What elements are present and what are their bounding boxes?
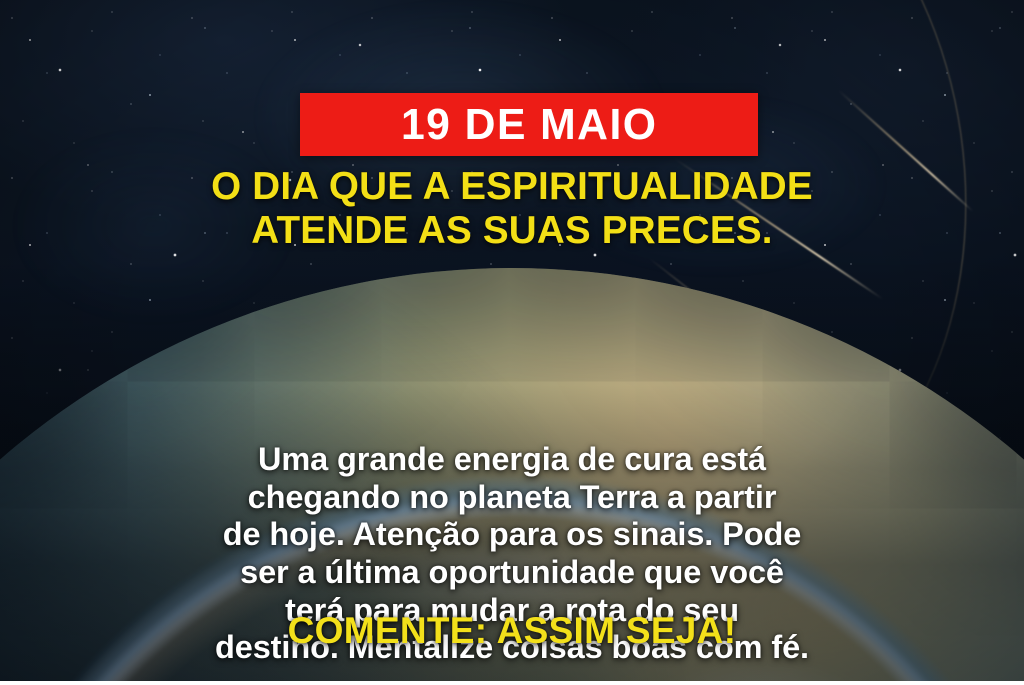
body-copy-line-1: Uma grande energia de cura está xyxy=(46,441,978,479)
date-banner-label: 19 DE MAIO xyxy=(401,103,657,147)
body-copy-line-4: ser a última oportunidade que você xyxy=(46,554,978,592)
date-banner: 19 DE MAIO xyxy=(300,93,758,156)
poster-canvas: 19 DE MAIO O DIA QUE A ESPIRITUALIDADE A… xyxy=(0,0,1024,685)
headline: O DIA QUE A ESPIRITUALIDADE ATENDE AS SU… xyxy=(0,165,1024,254)
bottom-border-strip xyxy=(0,681,1024,685)
body-copy-line-2: chegando no planeta Terra a partir xyxy=(46,479,978,517)
poster-content: 19 DE MAIO O DIA QUE A ESPIRITUALIDADE A… xyxy=(0,0,1024,685)
headline-line-1: O DIA QUE A ESPIRITUALIDADE xyxy=(45,165,980,209)
call-to-action: COMENTE: ASSIM SEJA! xyxy=(0,612,1024,649)
body-copy-line-3: de hoje. Atenção para os sinais. Pode xyxy=(46,516,978,554)
headline-line-2: ATENDE AS SUAS PRECES. xyxy=(45,209,980,253)
